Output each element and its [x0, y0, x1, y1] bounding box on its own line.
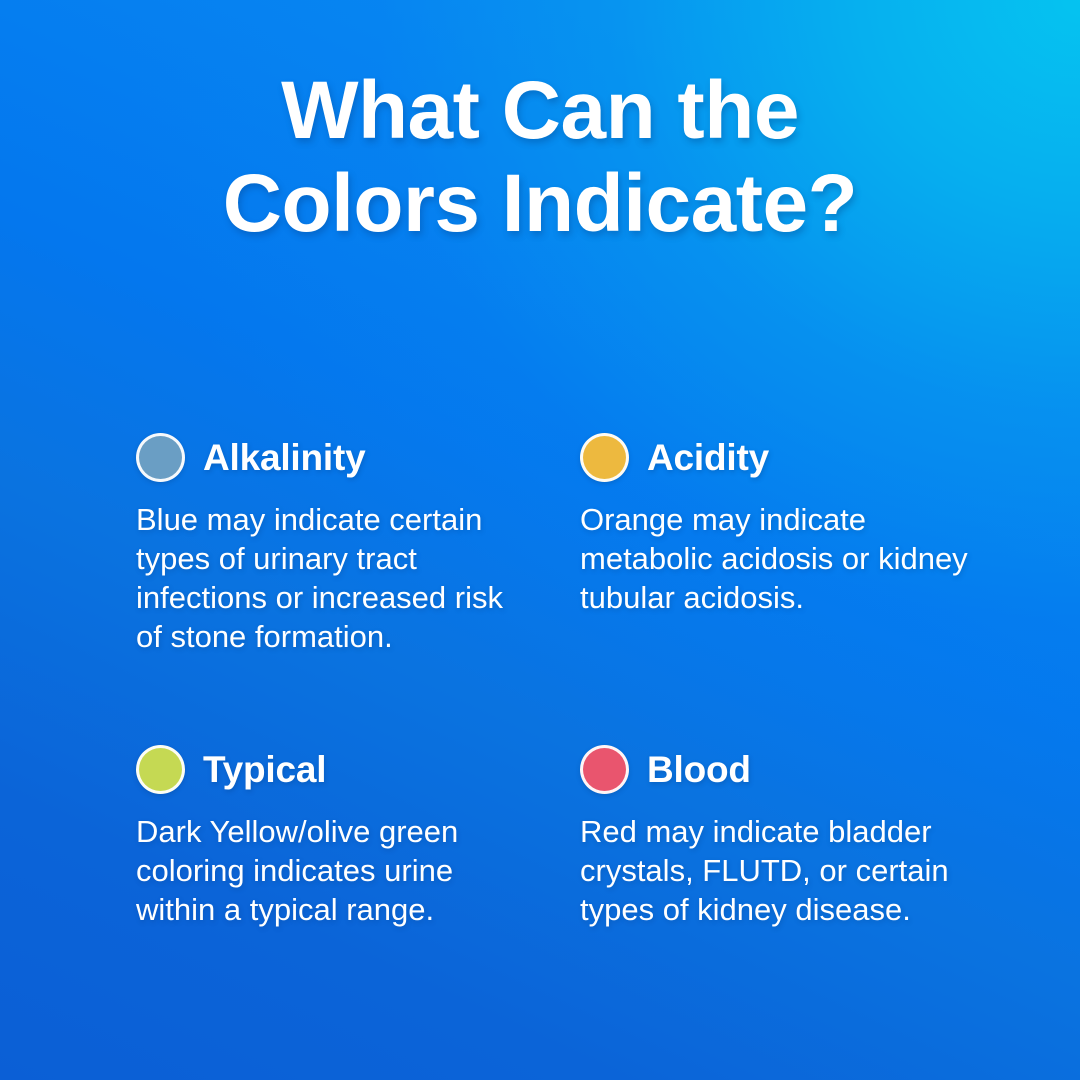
- legend-item-description: Blue may indicate certain types of urina…: [136, 500, 536, 656]
- legend-item-blood: Blood Red may indicate bladder crystals,…: [580, 656, 1008, 929]
- legend-item-title: Typical: [203, 749, 326, 790]
- legend-item-title: Blood: [647, 749, 751, 790]
- page-title: What Can the Colors Indicate?: [0, 64, 1080, 250]
- legend-item-typical: Typical Dark Yellow/olive green coloring…: [136, 656, 564, 929]
- legend-item-alkalinity: Alkalinity Blue may indicate certain typ…: [136, 428, 564, 656]
- legend-item-title: Acidity: [647, 437, 769, 478]
- legend-item-description: Dark Yellow/olive green coloring indicat…: [136, 812, 536, 929]
- legend-item-description: Red may indicate bladder crystals, FLUTD…: [580, 812, 975, 929]
- legend-item-header: Acidity: [580, 428, 1008, 486]
- legend-item-header: Typical: [136, 740, 564, 798]
- green-swatch-icon: [136, 745, 185, 794]
- legend-item-header: Alkalinity: [136, 428, 564, 486]
- legend-item-title: Alkalinity: [203, 437, 366, 478]
- orange-swatch-icon: [580, 433, 629, 482]
- legend-item-description: Orange may indicate metabolic acidosis o…: [580, 500, 975, 617]
- blue-swatch-icon: [136, 433, 185, 482]
- color-legend-grid: Alkalinity Blue may indicate certain typ…: [136, 428, 1008, 929]
- red-swatch-icon: [580, 745, 629, 794]
- legend-item-header: Blood: [580, 740, 1008, 798]
- page-title-line-2: Colors Indicate?: [0, 157, 1080, 250]
- page-title-line-1: What Can the: [0, 64, 1080, 157]
- infographic-poster: What Can the Colors Indicate? Alkalinity…: [0, 0, 1080, 1080]
- legend-item-acidity: Acidity Orange may indicate metabolic ac…: [580, 428, 1008, 656]
